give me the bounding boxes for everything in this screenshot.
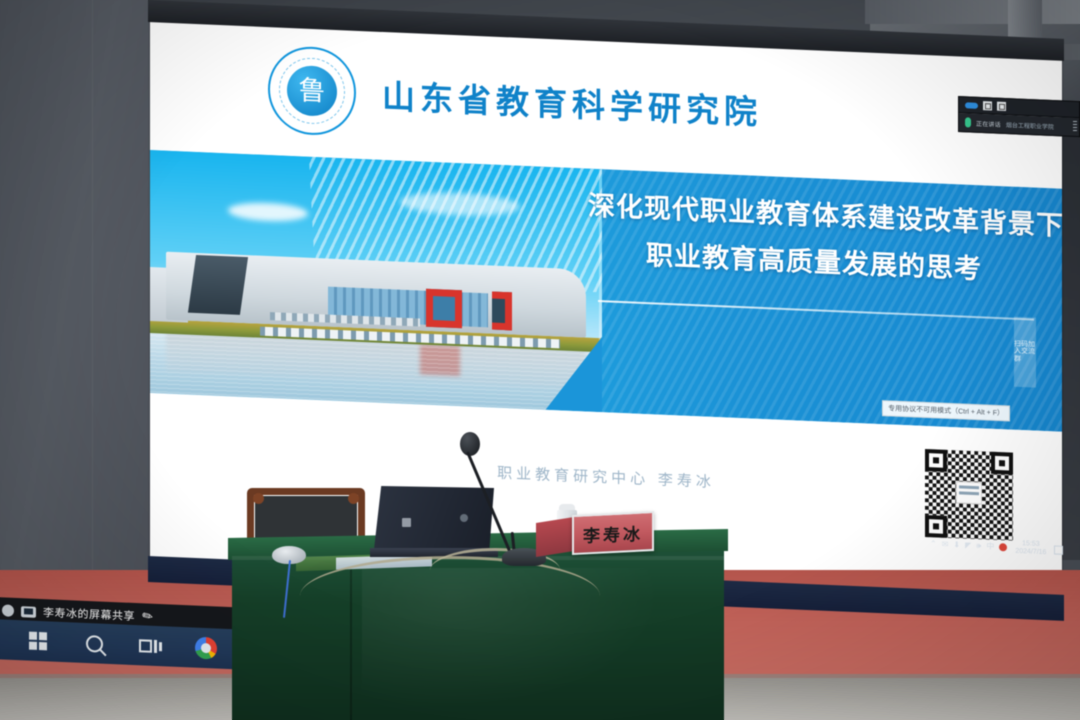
laptop-brand-logo-icon [402,518,411,527]
name-card: 李寿冰 [572,511,654,555]
microphone-stem [466,451,511,551]
conference-hall-scene: 鲁 山东省教育科学研究院 [0,0,1080,720]
name-card-text: 李寿冰 [583,520,643,547]
microphone-head [460,432,480,456]
chair-knob [348,493,359,504]
name-card-stand [536,517,574,557]
presenter-desk-area: 李寿冰 [0,0,1080,720]
chair-knob [253,493,264,504]
